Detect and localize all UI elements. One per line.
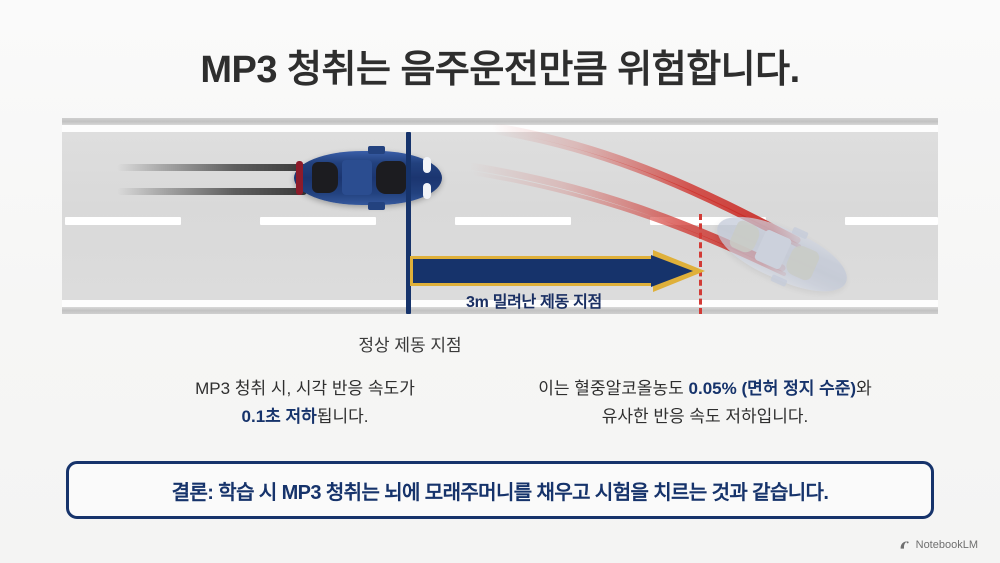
stat-right-post: 와: [856, 379, 872, 398]
stat-right-pre: 이는 혈중알코올농도: [538, 379, 688, 398]
side-mirror: [368, 146, 385, 154]
rear-window: [312, 162, 338, 193]
side-mirror: [368, 202, 385, 210]
car-roof: [342, 160, 372, 195]
headlight: [423, 183, 431, 199]
stat-left-line2-rest: 됩니다.: [317, 407, 369, 426]
stat-right: 이는 혈중알코올농도 0.05% (면허 정지 수준)와 유사한 반응 속도 저…: [495, 375, 915, 430]
windshield: [376, 161, 406, 194]
stat-left-line2: 0.1초 저하됩니다.: [95, 403, 515, 431]
stat-right-line1: 이는 혈중알코올농도 0.05% (면허 정지 수준)와: [495, 375, 915, 403]
page-title: MP3 청취는 음주운전만큼 위험합니다.: [0, 38, 1000, 93]
notebooklm-icon: [899, 539, 911, 551]
taillight: [296, 161, 303, 195]
stat-right-highlight: 0.05% (면허 정지 수준): [689, 379, 857, 398]
watermark: NotebookLM: [899, 539, 978, 551]
arrow-shaft: [410, 256, 658, 286]
watermark-label: NotebookLM: [916, 539, 978, 551]
conclusion-text: 결론: 학습 시 MP3 청취는 뇌에 모래주머니를 채우고 시험을 치르는 것…: [172, 476, 829, 505]
conclusion-box: 결론: 학습 시 MP3 청취는 뇌에 모래주머니를 채우고 시험을 치르는 것…: [66, 461, 934, 519]
stat-left-line1: MP3 청취 시, 시각 반응 속도가: [95, 375, 515, 403]
distance-arrow: [410, 250, 705, 292]
braking-car: [294, 151, 442, 205]
stat-right-line2: 유사한 반응 속도 저하입니다.: [495, 403, 915, 431]
stat-left-highlight: 0.1초 저하: [242, 407, 317, 426]
normal-braking-point-label: 정상 제동 지점: [270, 331, 550, 356]
stat-left: MP3 청취 시, 시각 반응 속도가 0.1초 저하됩니다.: [95, 375, 515, 430]
slide-canvas: MP3 청취는 음주운전만큼 위험합니다.: [0, 0, 1000, 563]
distance-arrow-label: 3m 밀려난 제동 지점: [410, 288, 658, 312]
arrow-head-fill: [651, 255, 693, 287]
headlight: [423, 157, 431, 173]
